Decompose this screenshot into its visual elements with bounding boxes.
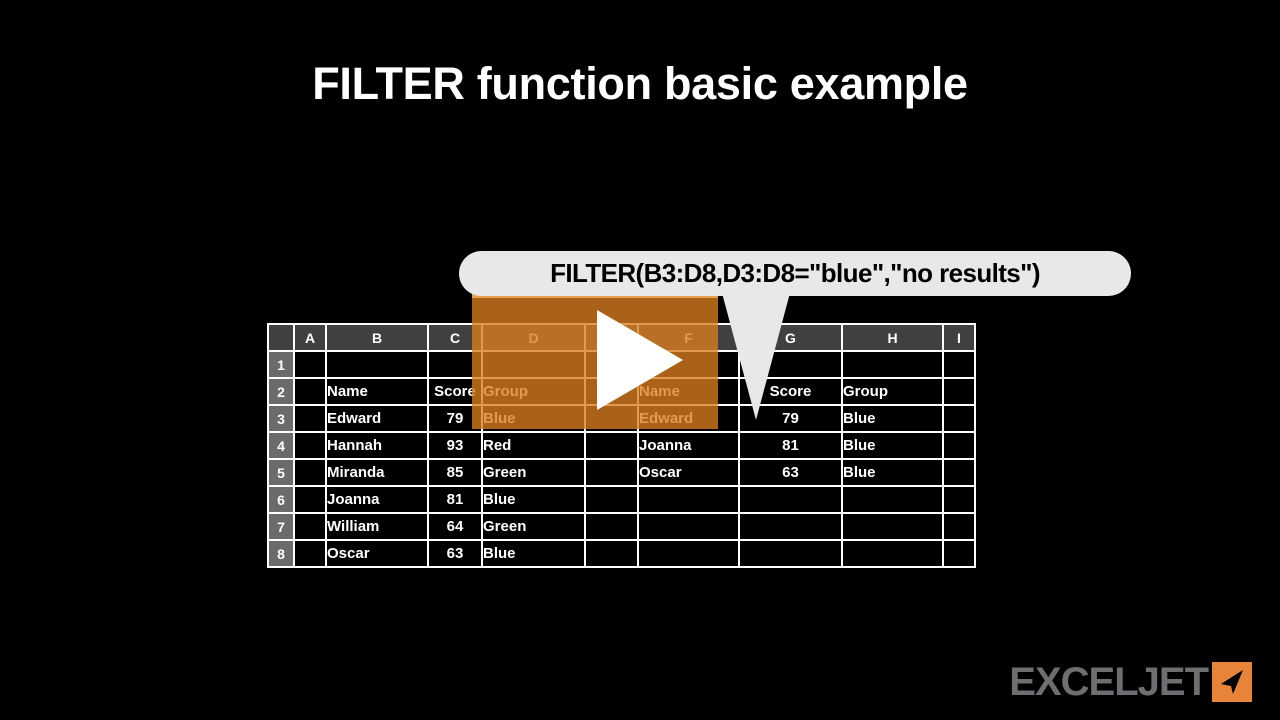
row-header-5[interactable]: 5 <box>269 460 293 485</box>
cell-E6[interactable] <box>586 487 637 512</box>
cell-B6[interactable]: Joanna <box>327 487 427 512</box>
column-header-b[interactable]: B <box>327 325 427 350</box>
cell-D5[interactable]: Green <box>483 460 584 485</box>
cell-H6[interactable] <box>843 487 942 512</box>
cell-E5[interactable] <box>586 460 637 485</box>
callout-tail <box>722 293 790 420</box>
cell-H1[interactable] <box>843 352 942 377</box>
cell-B8[interactable]: Oscar <box>327 541 427 566</box>
cell-C4[interactable]: 93 <box>429 433 481 458</box>
table-row[interactable]: 6Joanna81Blue <box>269 487 974 512</box>
cell-I7[interactable] <box>944 514 974 539</box>
cell-I1[interactable] <box>944 352 974 377</box>
cell-I4[interactable] <box>944 433 974 458</box>
cell-F8[interactable] <box>639 541 738 566</box>
cell-B1[interactable] <box>327 352 427 377</box>
cell-G6[interactable] <box>740 487 841 512</box>
exceljet-logo: EXCELJET <box>1009 662 1252 702</box>
table-row[interactable]: 8Oscar63Blue <box>269 541 974 566</box>
play-triangle-icon[interactable] <box>597 310 683 410</box>
cell-F4[interactable]: Joanna <box>639 433 738 458</box>
cell-A2[interactable] <box>295 379 325 404</box>
cell-H4[interactable]: Blue <box>843 433 942 458</box>
row-header-1[interactable]: 1 <box>269 352 293 377</box>
table-row[interactable]: 7William64Green <box>269 514 974 539</box>
cell-I2[interactable] <box>944 379 974 404</box>
row-header-3[interactable]: 3 <box>269 406 293 431</box>
table-row[interactable]: 4Hannah93RedJoanna81Blue <box>269 433 974 458</box>
table-row[interactable]: 5Miranda85GreenOscar63Blue <box>269 460 974 485</box>
cell-E8[interactable] <box>586 541 637 566</box>
cell-B3[interactable]: Edward <box>327 406 427 431</box>
cell-C5[interactable]: 85 <box>429 460 481 485</box>
cell-D8[interactable]: Blue <box>483 541 584 566</box>
cell-A8[interactable] <box>295 541 325 566</box>
cell-I8[interactable] <box>944 541 974 566</box>
cell-I5[interactable] <box>944 460 974 485</box>
cell-F7[interactable] <box>639 514 738 539</box>
cell-C6[interactable]: 81 <box>429 487 481 512</box>
cell-G5[interactable]: 63 <box>740 460 841 485</box>
cell-G4[interactable]: 81 <box>740 433 841 458</box>
grid-corner <box>269 325 293 350</box>
cell-F5[interactable]: Oscar <box>639 460 738 485</box>
cell-I6[interactable] <box>944 487 974 512</box>
cell-C7[interactable]: 64 <box>429 514 481 539</box>
column-header-i[interactable]: I <box>944 325 974 350</box>
cell-A6[interactable] <box>295 487 325 512</box>
column-header-h[interactable]: H <box>843 325 942 350</box>
cell-E4[interactable] <box>586 433 637 458</box>
formula-callout: FILTER(B3:D8,D3:D8="blue","no results") <box>459 251 1131 296</box>
cell-A1[interactable] <box>295 352 325 377</box>
cell-E7[interactable] <box>586 514 637 539</box>
cell-C8[interactable]: 63 <box>429 541 481 566</box>
cell-D7[interactable]: Green <box>483 514 584 539</box>
logo-wordmark: EXCELJET <box>1009 662 1208 702</box>
cell-A7[interactable] <box>295 514 325 539</box>
cell-A3[interactable] <box>295 406 325 431</box>
cell-H3[interactable]: Blue <box>843 406 942 431</box>
cell-H7[interactable] <box>843 514 942 539</box>
formula-text: FILTER(B3:D8,D3:D8="blue","no results") <box>550 258 1040 289</box>
slide-canvas: FILTER function basic example ABCDEFGHI … <box>0 0 1280 720</box>
cell-D4[interactable]: Red <box>483 433 584 458</box>
cell-H5[interactable]: Blue <box>843 460 942 485</box>
cell-H8[interactable] <box>843 541 942 566</box>
column-header-a[interactable]: A <box>295 325 325 350</box>
cell-B7[interactable]: William <box>327 514 427 539</box>
cell-B4[interactable]: Hannah <box>327 433 427 458</box>
cell-G7[interactable] <box>740 514 841 539</box>
cell-I3[interactable] <box>944 406 974 431</box>
row-header-7[interactable]: 7 <box>269 514 293 539</box>
cell-F6[interactable] <box>639 487 738 512</box>
cell-G8[interactable] <box>740 541 841 566</box>
cell-A4[interactable] <box>295 433 325 458</box>
cell-B2[interactable]: Name <box>327 379 427 404</box>
page-title: FILTER function basic example <box>0 58 1280 110</box>
cell-D6[interactable]: Blue <box>483 487 584 512</box>
row-header-4[interactable]: 4 <box>269 433 293 458</box>
paper-plane-icon <box>1212 662 1252 702</box>
cell-A5[interactable] <box>295 460 325 485</box>
row-header-6[interactable]: 6 <box>269 487 293 512</box>
row-header-2[interactable]: 2 <box>269 379 293 404</box>
row-header-8[interactable]: 8 <box>269 541 293 566</box>
cell-H2[interactable]: Group <box>843 379 942 404</box>
cell-B5[interactable]: Miranda <box>327 460 427 485</box>
